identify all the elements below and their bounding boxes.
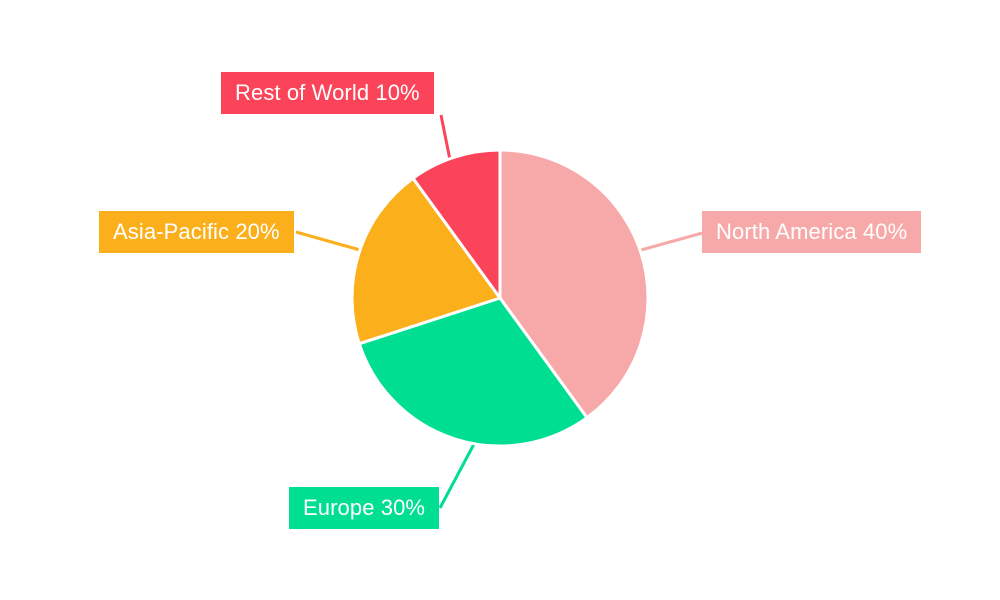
pie-chart-canvas — [0, 0, 1000, 600]
slice-label-asia-pacific[interactable]: Asia-Pacific 20% — [99, 211, 294, 253]
slice-label-europe[interactable]: Europe 30% — [289, 487, 439, 529]
slice-label-north-america[interactable]: North America 40% — [702, 211, 921, 253]
slice-label-rest-of-world-text: Rest of World 10% — [235, 82, 420, 104]
slice-label-rest-of-world[interactable]: Rest of World 10% — [221, 72, 434, 114]
slice-label-north-america-text: North America 40% — [716, 221, 907, 243]
slice-label-asia-pacific-text: Asia-Pacific 20% — [113, 221, 280, 243]
pie-slices — [352, 150, 648, 446]
slice-label-europe-text: Europe 30% — [303, 497, 425, 519]
pie-chart-figure: North America 40% Europe 30% Asia-Pacifi… — [0, 0, 1000, 600]
